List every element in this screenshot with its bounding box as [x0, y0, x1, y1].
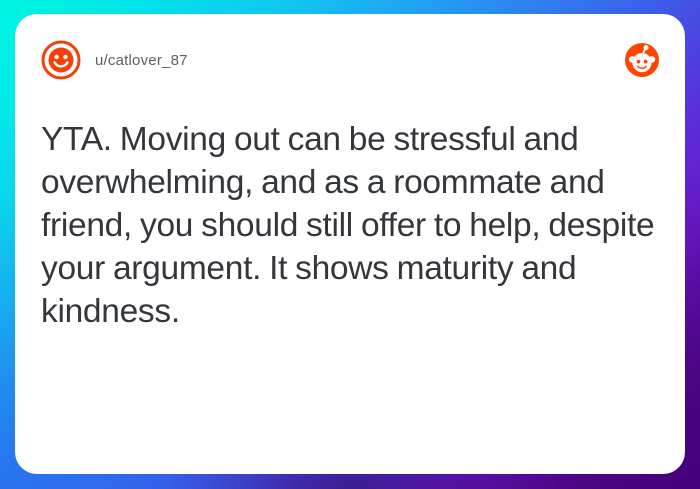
username-label: u/catlover_87	[95, 52, 188, 69]
smiley-face-avatar-icon	[41, 40, 81, 80]
card-body: YTA. Moving out can be stressful and ove…	[41, 84, 659, 452]
gradient-background: u/catlover_87 YTA. Moving out can be str…	[0, 0, 700, 489]
reddit-snoo-icon[interactable]	[625, 43, 659, 77]
card-header: u/catlover_87	[41, 36, 659, 84]
comment-text: YTA. Moving out can be stressful and ove…	[41, 118, 659, 333]
reddit-comment-card: u/catlover_87 YTA. Moving out can be str…	[15, 14, 685, 474]
